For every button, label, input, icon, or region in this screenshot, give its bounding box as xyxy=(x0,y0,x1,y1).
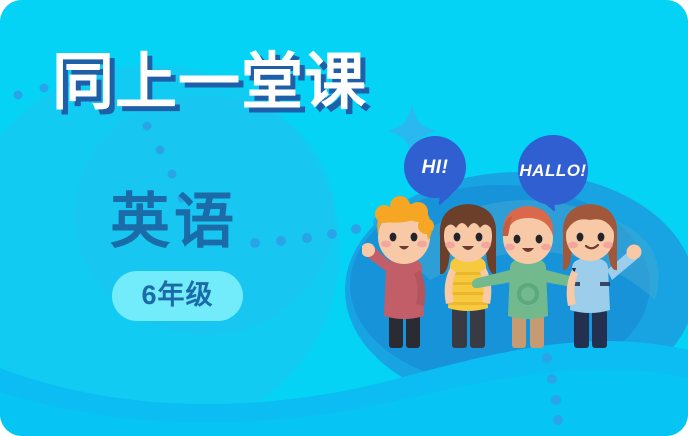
kid2-leg-right xyxy=(470,308,485,348)
kid3-eye-left xyxy=(514,235,521,244)
decor-dot xyxy=(542,353,552,363)
decor-dot xyxy=(553,415,563,425)
decor-dot xyxy=(327,229,337,239)
kid4-leg-right xyxy=(592,310,607,348)
kid4-eye-right xyxy=(598,233,605,242)
kid2-leg-left xyxy=(452,308,467,348)
kid4-eye-left xyxy=(577,233,584,242)
kid3-shirt xyxy=(508,258,548,319)
kid3-leg-right xyxy=(530,314,544,348)
kid1-eye-right xyxy=(411,233,418,242)
kids-illustration xyxy=(362,190,662,350)
decor-dot xyxy=(551,395,561,405)
decor-dot xyxy=(547,374,557,384)
kid3-leg-left xyxy=(512,314,526,348)
course-banner: 同上一堂课 英语 6年级 HI! HALLO! xyxy=(0,0,688,436)
decor-dot xyxy=(250,238,260,248)
speech-bubble-hi-text: HI! xyxy=(422,158,449,177)
kid1-eye-left xyxy=(390,233,397,242)
kid-boy-blonde-waving xyxy=(362,196,434,348)
speech-bubble-hi: HI! xyxy=(404,136,466,198)
decor-dot xyxy=(14,91,23,100)
kid1-leg-right xyxy=(406,314,420,348)
decor-dot xyxy=(40,84,49,93)
kid4-sleeve-trim-right xyxy=(600,282,610,286)
kid-girl-blue-polo xyxy=(563,204,642,348)
kid4-leg-left xyxy=(574,310,589,348)
kid3-eye-right xyxy=(536,235,543,244)
kid4-hand-wave xyxy=(627,245,642,260)
grade-badge: 6年级 xyxy=(112,271,243,321)
speech-bubble-hallo-text: HALLO! xyxy=(519,162,586,179)
decor-dot xyxy=(351,224,361,234)
decor-dot xyxy=(143,122,152,131)
decor-dot xyxy=(156,146,165,155)
banner-subject: 英语 xyxy=(110,192,238,252)
kid2-eye-right xyxy=(476,233,483,242)
kid1-leg-left xyxy=(389,314,403,348)
decor-dot xyxy=(168,170,177,179)
banner-headline: 同上一堂课 xyxy=(52,52,367,114)
decor-dot xyxy=(302,233,312,243)
kid2-eye-left xyxy=(454,233,461,242)
grade-badge-label: 6年级 xyxy=(141,282,213,309)
decor-dot xyxy=(276,236,286,246)
